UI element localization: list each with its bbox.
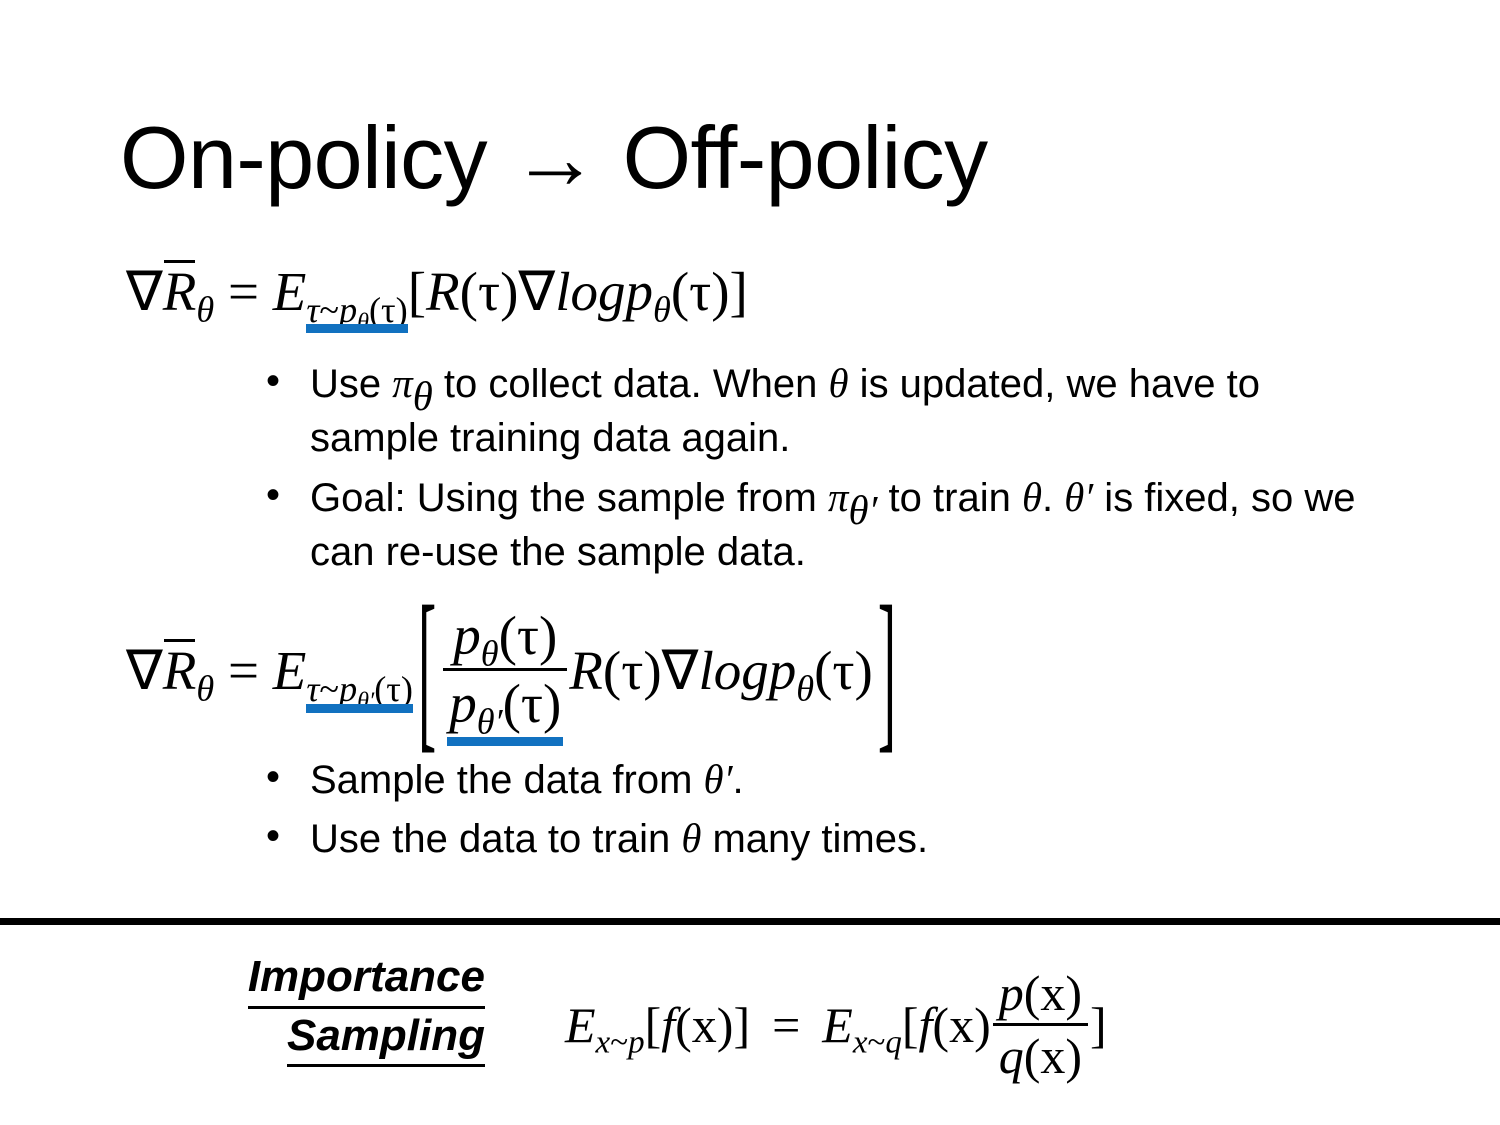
nabla-icon-2: ∇: [518, 261, 555, 322]
equation-off-policy: ∇Rθ = Eτ~pθ′(τ) [ pθ(τ) pθ′(τ) R(τ)∇logp…: [126, 606, 901, 734]
expectation-symbol: E: [273, 261, 307, 322]
equals-sign: =: [228, 640, 259, 701]
log-symbol: log: [698, 640, 768, 701]
r-bar-symbol: R: [163, 258, 197, 323]
theta-prime-symbol: θ′: [704, 757, 733, 802]
page-title: On-policy → Off-policy: [120, 112, 988, 204]
expectation-subscript-p: x~p: [596, 1024, 645, 1060]
fraction-bar: [443, 668, 567, 671]
bullet-text-3: .: [1042, 476, 1064, 520]
expectation-subscript-q: x~q: [853, 1024, 902, 1060]
density-ratio-fraction: p(x) q(x): [993, 966, 1088, 1083]
bullet-text-2: to train: [877, 476, 1022, 520]
theta-symbol: θ: [1022, 475, 1042, 520]
fraction-denominator: q(x): [993, 1028, 1088, 1083]
expectation-p: Ex~p[f(x)]: [565, 996, 750, 1054]
fraction-numerator: pθ(τ): [443, 606, 567, 666]
theta-subscript: θ: [413, 374, 433, 419]
probability-symbol: p: [769, 640, 797, 701]
bullet-list-upper: Use πθ to collect data. When θ is update…: [258, 356, 1378, 584]
equals-sign: =: [228, 261, 259, 322]
bullet-text-2: .: [733, 758, 744, 802]
expectation-q: Ex~q[f(x): [822, 996, 990, 1054]
r-bar-symbol: R: [163, 637, 197, 702]
theta-subscript: θ: [196, 669, 214, 709]
log-symbol: log: [555, 261, 625, 322]
theta-symbol: θ: [829, 361, 849, 406]
importance-sampling-equation: Ex~p[f(x)] = Ex~q[f(x) p(x) q(x) ]: [565, 966, 1107, 1083]
equation-rhs: R(τ)∇logpθ(τ): [569, 638, 873, 702]
footer-label-line-1: Importance: [165, 950, 485, 1009]
expectation-subscript-highlighted: τ~pθ(τ): [306, 310, 407, 323]
list-item: Use πθ to collect data. When θ is update…: [258, 356, 1378, 466]
bullet-text: Use the data to train: [310, 817, 681, 861]
list-item: Use the data to train θ many times.: [258, 811, 1378, 866]
function-f: f: [661, 997, 675, 1053]
footer-label-line-2: Sampling: [165, 1009, 485, 1068]
function-f-2: f: [919, 997, 933, 1053]
nabla-icon-2: ∇: [662, 640, 699, 701]
bullet-text: Sample the data from: [310, 758, 704, 802]
bracket-close: ]: [878, 567, 896, 772]
reward-symbol: R: [426, 261, 460, 322]
fraction-numerator: p(x): [993, 966, 1088, 1021]
footer-label: Importance Sampling: [165, 950, 485, 1067]
equals-sign: =: [772, 996, 800, 1054]
bullet-list-lower: Sample the data from θ′. Use the data to…: [258, 752, 1378, 871]
importance-weight-fraction: pθ(τ) pθ′(τ): [443, 606, 567, 734]
equation-on-policy: ∇Rθ = Eτ~pθ(τ)[R(τ)∇logpθ(τ)]: [126, 258, 748, 323]
bracket-open: [: [418, 567, 436, 772]
theta-prime-symbol: θ′: [1064, 475, 1093, 520]
slide-root: On-policy → Off-policy ∇Rθ = Eτ~pθ(τ)[R(…: [0, 0, 1500, 1125]
theta-symbol: θ: [681, 816, 701, 861]
bracket-close: ]: [1090, 996, 1107, 1054]
bullet-text-2: to collect data. When: [433, 362, 829, 406]
bullet-text: Goal: Using the sample from: [310, 476, 828, 520]
bullet-text-2: many times.: [701, 817, 928, 861]
bracket-open: [: [408, 261, 426, 322]
nabla-icon: ∇: [126, 640, 163, 701]
bracket-close: ]: [730, 261, 748, 322]
section-divider: [0, 918, 1500, 925]
expectation-symbol: E: [273, 640, 307, 701]
theta-prime-subscript: θ′: [848, 488, 877, 533]
theta-subscript: θ: [196, 290, 214, 330]
bullet-text: Use: [310, 362, 392, 406]
pi-symbol: π: [392, 361, 412, 406]
equation-lhs: ∇Rθ = Eτ~pθ′(τ): [126, 637, 413, 702]
expectation-subscript-highlighted: τ~pθ′(τ): [306, 689, 413, 702]
fraction-bar: [993, 1023, 1088, 1026]
list-item: Goal: Using the sample from πθ′ to train…: [258, 470, 1378, 580]
list-item: Sample the data from θ′.: [258, 752, 1378, 807]
nabla-icon: ∇: [126, 261, 163, 322]
fraction-denominator: pθ′(τ): [443, 673, 567, 733]
pi-symbol: π: [828, 475, 848, 520]
reward-symbol: R: [569, 640, 603, 701]
probability-symbol: p: [625, 261, 653, 322]
